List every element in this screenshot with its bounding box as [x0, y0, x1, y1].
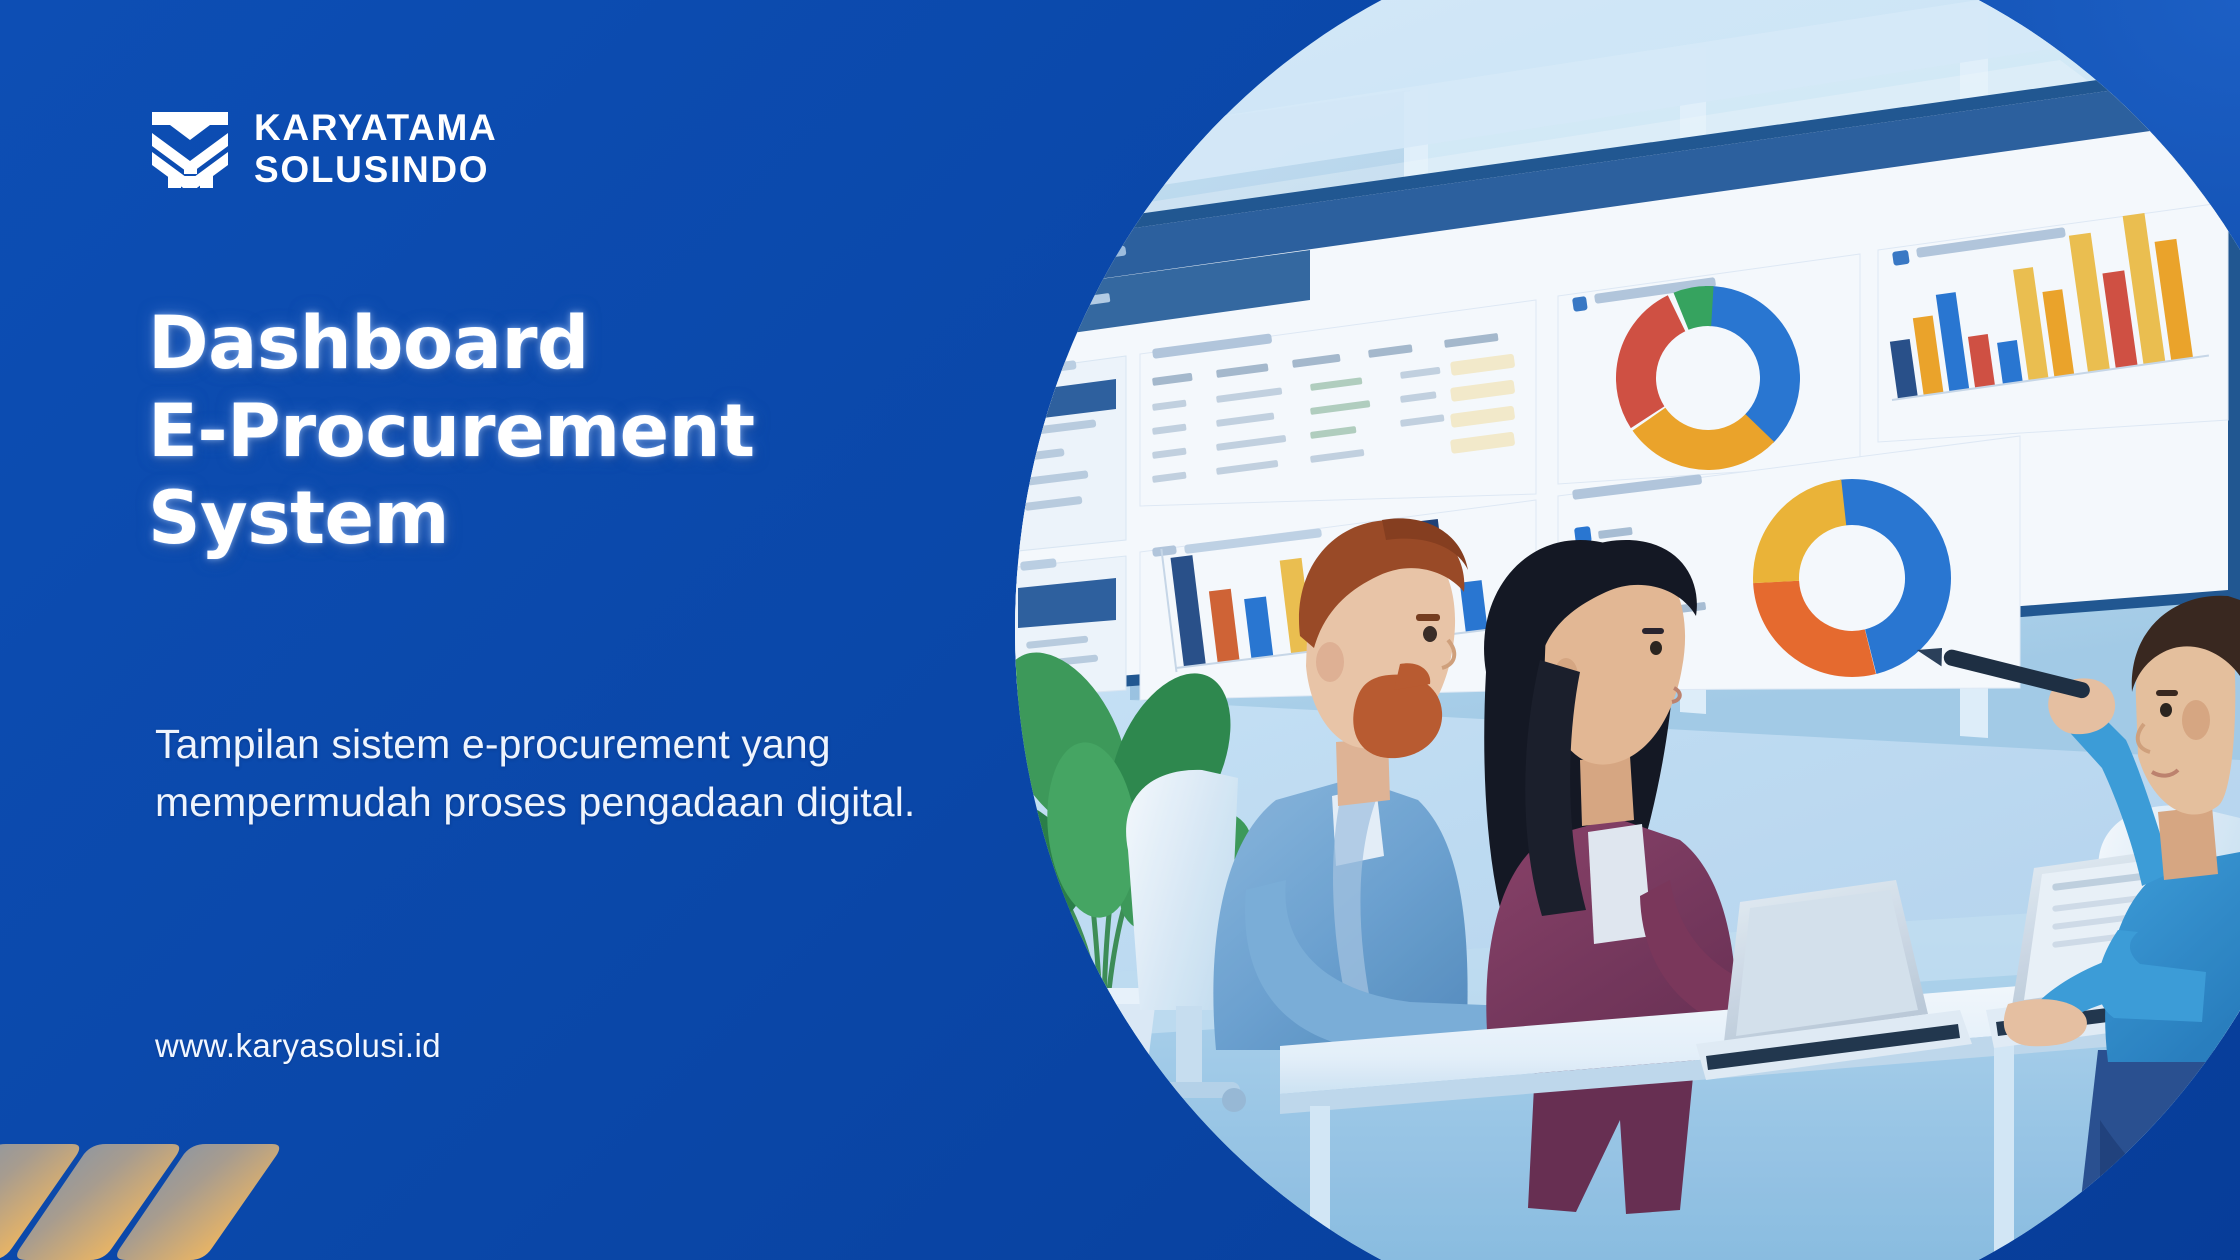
- headline-line-2: E-Procurement: [148, 388, 978, 476]
- decorative-chevrons: [0, 1120, 380, 1260]
- description-text: Tampilan sistem e-procurement yang mempe…: [155, 715, 955, 831]
- page-title: Dashboard E-Procurement System: [148, 300, 978, 563]
- photo-tint: [980, 0, 2240, 1260]
- website-url[interactable]: www.karyasolusi.id: [155, 1027, 441, 1065]
- karyatama-chevron-mark: [148, 108, 232, 188]
- promo-slide: KARYATAMA SOLUSINDO Dashboard E-Procurem…: [0, 0, 2240, 1260]
- brand-name-line2: SOLUSINDO: [254, 151, 497, 188]
- brand-wordmark: KARYATAMA SOLUSINDO: [254, 109, 497, 188]
- headline-line-1: Dashboard: [148, 300, 978, 388]
- left-content-panel: KARYATAMA SOLUSINDO Dashboard E-Procurem…: [0, 0, 1100, 1260]
- brand-logo[interactable]: KARYATAMA SOLUSINDO: [148, 108, 497, 188]
- illustration-panel: [980, 0, 2240, 1260]
- photo-clip-group: [980, 0, 2240, 1260]
- brand-name-line1: KARYATAMA: [254, 109, 497, 146]
- headline-line-3: System: [148, 475, 978, 563]
- office-scene-illustration: [980, 0, 2240, 1260]
